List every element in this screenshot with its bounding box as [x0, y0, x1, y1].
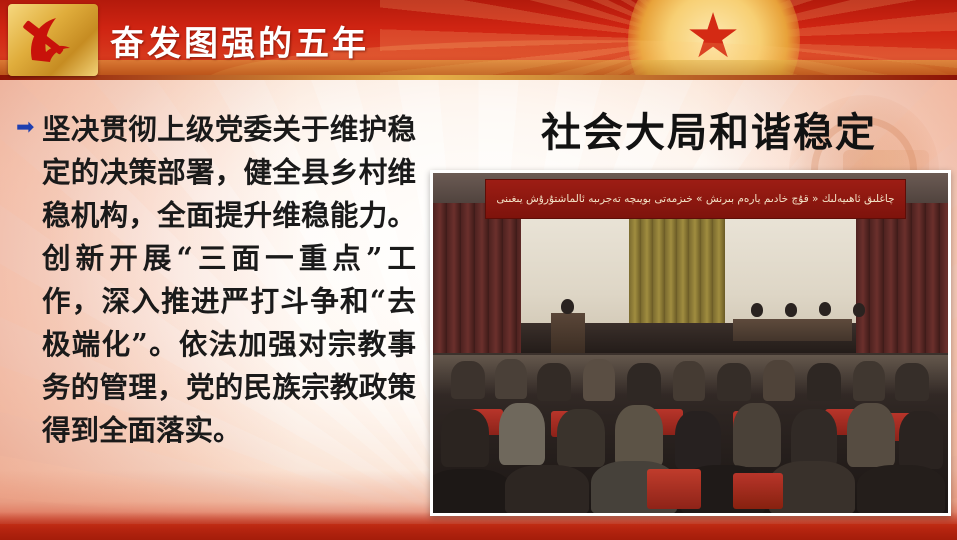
photo-audience: [807, 363, 841, 401]
photo-left-curtain: [433, 203, 521, 353]
photo-audience: [733, 403, 781, 467]
photo-audience-front: [505, 465, 589, 513]
photo-speaker-head: [561, 299, 574, 314]
photo-audience: [615, 405, 663, 467]
photo-chair: [733, 473, 783, 509]
arrow-bullet-icon: ➡: [16, 108, 42, 138]
section-heading: 社会大局和谐稳定: [470, 100, 948, 158]
conference-photo: چاغلىق ئاھىيەلىك « قۇچ خادىم يارەم بىرنش…: [433, 173, 948, 513]
photo-audience: [763, 360, 795, 401]
photo-audience: [675, 411, 721, 469]
photo-panel-head: [751, 303, 763, 317]
party-emblem: [8, 2, 100, 78]
photo-audience: [673, 361, 705, 401]
photo-chair: [647, 469, 701, 509]
photo-banner-text: چاغلىق ئاھىيەلىك « قۇچ خادىم يارەم بىرنش…: [496, 193, 894, 205]
photo-audience: [499, 403, 545, 465]
photo-audience: [791, 409, 837, 467]
photo-audience-front: [857, 465, 945, 513]
photo-audience: [717, 363, 751, 401]
photo-audience: [895, 363, 929, 401]
photo-audience: [537, 363, 571, 401]
photo-head-table: [733, 319, 852, 341]
photo-audience: [557, 409, 605, 467]
photo-audience: [899, 411, 943, 469]
photo-audience: [441, 409, 489, 467]
header-banner: ★ 奋发图强的五年: [0, 0, 957, 80]
bullet-row: ➡ 坚决贯彻上级党委关于维护稳定的决策部署，健全县乡村维稳机构，全面提升维稳能力…: [16, 108, 416, 452]
photo-audience: [847, 403, 895, 467]
slide-root: ★ 奋发图强的五年 ➡ 坚决贯彻上级党委关于维护稳定的决策部署，健全县乡村维稳机…: [0, 0, 957, 540]
photo-audience: [583, 359, 615, 401]
photo-panel-head: [785, 303, 797, 317]
body-text-block: ➡ 坚决贯彻上级党委关于维护稳定的决策部署，健全县乡村维稳机构，全面提升维稳能力…: [16, 108, 416, 452]
photo-banner: چاغلىق ئاھىيەلىك « قۇچ خادىم يارەم بىرنش…: [485, 179, 906, 219]
header-bottom-line: [0, 75, 957, 80]
photo-center-curtain: [629, 217, 725, 329]
bullet-paragraph: 坚决贯彻上级党委关于维护稳定的决策部署，健全县乡村维稳机构，全面提升维稳能力。创…: [42, 108, 416, 452]
photo-podium: [551, 313, 585, 355]
photo-audience: [451, 361, 485, 399]
photo-right-curtain: [856, 203, 948, 353]
photo-frame: چاغلىق ئاھىيەلىك « قۇچ خادىم يارەم بىرنش…: [430, 170, 951, 516]
footer-strip: [0, 512, 957, 540]
hammer-and-sickle-icon: [22, 12, 84, 68]
photo-panel-head: [819, 302, 831, 316]
photo-audience: [495, 359, 527, 399]
photo-audience: [627, 363, 661, 401]
photo-panel-head: [853, 303, 865, 317]
photo-audience: [853, 361, 885, 401]
page-title: 奋发图强的五年: [110, 16, 369, 65]
photo-audience-front: [433, 469, 511, 513]
